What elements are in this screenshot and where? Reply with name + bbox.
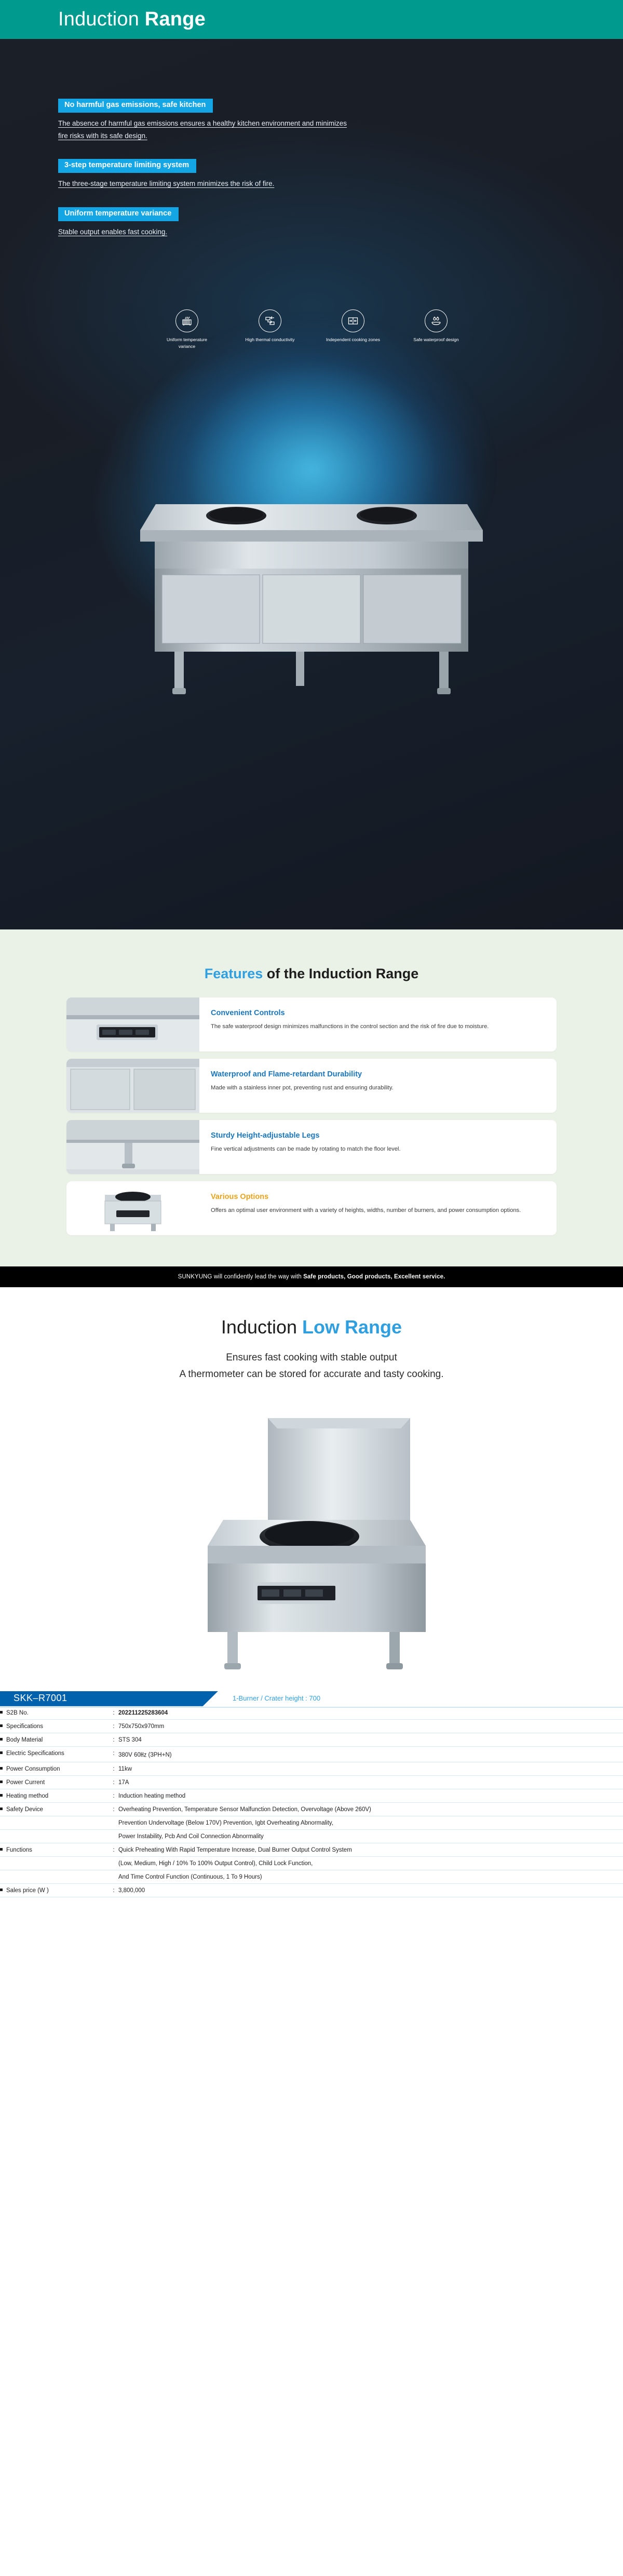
spec-colon: [109, 1816, 118, 1829]
product-page: Induction Range No harmful gas emissions…: [0, 0, 623, 1911]
spec-label-cell: Sales price (W ): [0, 1883, 109, 1897]
spec-section: SKK–R7001 1-Burner / Crater height : 700…: [0, 1688, 623, 1911]
brand-strip-bold: Safe products, Good products, Excellent …: [303, 1274, 445, 1280]
table-row: Heating method : Induction heating metho…: [0, 1789, 623, 1802]
feature-card-title: Various Options: [211, 1193, 521, 1201]
hero-bullet-badge: 3-step temperature limiting system: [58, 159, 196, 173]
lowrange-section: Induction Low Range Ensures fast cooking…: [0, 1287, 623, 1688]
spec-label: Heating method: [6, 1793, 48, 1799]
feature-card-text: The safe waterproof design minimizes mal…: [211, 1022, 489, 1032]
spec-label: Electric Specifications: [6, 1750, 64, 1757]
lowrange-subtitle-line1: Ensures fast cooking with stable output: [0, 1350, 623, 1366]
spec-label-cell: [0, 1829, 109, 1843]
feature-card-title: Waterproof and Flame-retardant Durabilit…: [211, 1070, 394, 1078]
page-title-light: Induction: [58, 8, 145, 30]
spec-label: Specifications: [6, 1723, 43, 1730]
spec-label: Power Current: [6, 1779, 45, 1786]
spec-label-cell: [0, 1856, 109, 1870]
bullet-square-icon: [0, 1794, 3, 1797]
lowrange-subtitle-line2: A thermometer can be stored for accurate…: [0, 1366, 623, 1383]
brand-strip: SUNKYUNG will confidently lead the way w…: [0, 1266, 623, 1287]
hero-bullet: 3-step temperature limiting system The t…: [58, 159, 623, 190]
spec-colon: :: [109, 1733, 118, 1746]
page-header: Induction Range: [0, 0, 623, 39]
spec-colon: [109, 1870, 118, 1883]
brand-strip-prefix: SUNKYUNG will confidently lead the way w…: [178, 1274, 304, 1280]
hero-icon-label: Uniform temperature variance: [159, 336, 215, 349]
feature-card-body: Sturdy Height-adjustable Legs Fine verti…: [199, 1120, 414, 1174]
bullet-square-icon: [0, 1889, 3, 1891]
spec-value: Induction heating method: [118, 1789, 623, 1802]
features-title: Features of the Induction Range: [0, 966, 623, 982]
heating-element-icon: [175, 309, 198, 332]
table-row: And Time Control Function (Continuous, 1…: [0, 1870, 623, 1883]
feature-card-body: Waterproof and Flame-retardant Durabilit…: [199, 1059, 407, 1113]
table-row: Electric Specifications : 380V 60㎐ (3PH+…: [0, 1746, 623, 1762]
feature-card: Various Options Offers an optimal user e…: [66, 1181, 557, 1235]
table-row: Safety Device : Overheating Prevention, …: [0, 1802, 623, 1816]
product-code: SKK–R7001: [13, 1693, 67, 1704]
lowrange-title: Induction Low Range: [0, 1316, 623, 1338]
control-panel-photo: [66, 997, 199, 1051]
spec-value: (Low, Medium, High / 10% To 100% Output …: [118, 1856, 623, 1870]
feature-card-body: Convenient Controls The safe waterproof …: [199, 997, 502, 1051]
spec-value: And Time Control Function (Continuous, 1…: [118, 1870, 623, 1883]
bullet-square-icon: [0, 1808, 3, 1810]
table-row: S2B No. : 202211225283604: [0, 1706, 623, 1720]
feature-card-text: Offers an optimal user environment with …: [211, 1206, 521, 1216]
spec-colon: [109, 1829, 118, 1843]
low-range-options-photo: [66, 1181, 199, 1235]
spec-colon: :: [109, 1789, 118, 1802]
spec-label-cell: Electric Specifications: [0, 1746, 109, 1762]
feature-card-text: Made with a stainless inner pot, prevent…: [211, 1083, 394, 1094]
bullet-square-icon: [0, 1848, 3, 1851]
spec-label: S2B No.: [6, 1710, 29, 1716]
stainless-door-photo: [66, 1059, 199, 1113]
adjustable-leg-photo: [66, 1120, 199, 1174]
bullet-square-icon: [0, 1724, 3, 1727]
page-title-bold: Range: [145, 8, 206, 30]
spec-value: 750x750x970mm: [118, 1719, 623, 1733]
spec-label-cell: Specifications: [0, 1719, 109, 1733]
bullet-square-icon: [0, 1711, 3, 1714]
spec-value: Quick Preheating With Rapid Temperature …: [118, 1843, 623, 1856]
hero-section: No harmful gas emissions, safe kitchen T…: [0, 39, 623, 929]
lowrange-subtitle: Ensures fast cooking with stable output …: [0, 1350, 623, 1383]
spec-value: STS 304: [118, 1733, 623, 1746]
spec-colon: :: [109, 1706, 118, 1720]
thermal-exchange-icon: [259, 309, 281, 332]
spec-label: Body Material: [6, 1737, 43, 1743]
spec-label-cell: Power Current: [0, 1775, 109, 1789]
spec-value: Prevention Undervoltage (Below 170V) Pre…: [118, 1816, 623, 1829]
spec-label: Functions: [6, 1847, 32, 1853]
spec-colon: [109, 1856, 118, 1870]
hero-bullet-badge: Uniform temperature variance: [58, 207, 179, 221]
features-title-rest: of the Induction Range: [263, 966, 418, 981]
spec-table: S2B No. : 202211225283604 Specifications…: [0, 1706, 623, 1897]
feature-card-body: Various Options Offers an optimal user e…: [199, 1181, 534, 1235]
product-variant: 1-Burner / Crater height : 700: [233, 1694, 320, 1702]
spec-colon: :: [109, 1775, 118, 1789]
features-section: Features of the Induction Range Convenie…: [0, 929, 623, 1266]
waterproof-drops-icon: [425, 309, 448, 332]
spec-value: 3,800,000: [118, 1883, 623, 1897]
spec-value: 11kw: [118, 1762, 623, 1775]
hero-icon-label: Safe waterproof design: [408, 336, 464, 343]
hero-icon-item: Independent cooking zones: [325, 309, 381, 349]
spec-colon: :: [109, 1762, 118, 1775]
spec-label: Sales price (W ): [6, 1887, 49, 1894]
spec-value: Overheating Prevention, Temperature Sens…: [118, 1802, 623, 1816]
spec-label-cell: Body Material: [0, 1733, 109, 1746]
spec-label-cell: Power Consumption: [0, 1762, 109, 1775]
feature-card-title: Convenient Controls: [211, 1009, 489, 1017]
feature-card-title: Sturdy Height-adjustable Legs: [211, 1131, 401, 1140]
spec-value: 17A: [118, 1775, 623, 1789]
table-row: Power Consumption : 11kw: [0, 1762, 623, 1775]
spec-colon: :: [109, 1843, 118, 1856]
spec-colon: :: [109, 1883, 118, 1897]
spec-label: Power Consumption: [6, 1766, 60, 1772]
bullet-square-icon: [0, 1767, 3, 1770]
table-row: Power Instability, Pcb And Coil Connecti…: [0, 1829, 623, 1843]
spec-label: Safety Device: [6, 1806, 43, 1813]
split-zones-icon: [342, 309, 364, 332]
spec-label-cell: [0, 1816, 109, 1829]
feature-card: Waterproof and Flame-retardant Durabilit…: [66, 1059, 557, 1113]
hero-icon-item: Safe waterproof design: [408, 309, 464, 349]
hero-bullet-text: Stable output enables fast cooking.: [58, 226, 349, 238]
spec-value: 380V 60㎐ (3PH+N): [118, 1746, 623, 1762]
spec-label-cell: Safety Device: [0, 1802, 109, 1816]
bullet-square-icon: [0, 1781, 3, 1783]
table-row: Prevention Undervoltage (Below 170V) Pre…: [0, 1816, 623, 1829]
hero-icon-label: Independent cooking zones: [325, 336, 381, 343]
hero-icon-label: High thermal conductivity: [242, 336, 298, 343]
bullet-square-icon: [0, 1751, 3, 1754]
spec-value: Power Instability, Pcb And Coil Connecti…: [118, 1829, 623, 1843]
spec-label-cell: Heating method: [0, 1789, 109, 1802]
table-row: (Low, Medium, High / 10% To 100% Output …: [0, 1856, 623, 1870]
hero-icon-item: Uniform temperature variance: [159, 309, 215, 349]
page-title: Induction Range: [58, 8, 206, 31]
table-row: Sales price (W ) : 3,800,000: [0, 1883, 623, 1897]
hero-icon-item: High thermal conductivity: [242, 309, 298, 349]
hero-product-image: [125, 374, 498, 738]
feature-card: Convenient Controls The safe waterproof …: [66, 997, 557, 1051]
lowrange-title-light: Induction: [221, 1316, 302, 1338]
hero-bullet-badge: No harmful gas emissions, safe kitchen: [58, 99, 213, 113]
lowrange-title-bold: Low Range: [302, 1316, 402, 1338]
features-title-accent: Features: [205, 966, 263, 981]
spec-colon: :: [109, 1802, 118, 1816]
spec-label-cell: Functions: [0, 1843, 109, 1856]
hero-bullet: No harmful gas emissions, safe kitchen T…: [58, 99, 623, 142]
hero-icon-row: Uniform temperature variance High therma…: [0, 309, 623, 349]
table-row: Specifications : 750x750x970mm: [0, 1719, 623, 1733]
table-row: Functions : Quick Preheating With Rapid …: [0, 1843, 623, 1856]
table-row: Body Material : STS 304: [0, 1733, 623, 1746]
spec-header: SKK–R7001 1-Burner / Crater height : 700: [0, 1691, 623, 1706]
hero-bullet-text: The three-stage temperature limiting sys…: [58, 178, 349, 190]
spec-label-cell: [0, 1870, 109, 1883]
hero-bullet: Uniform temperature variance Stable outp…: [58, 207, 623, 238]
spec-colon: :: [109, 1746, 118, 1762]
table-row: Power Current : 17A: [0, 1775, 623, 1789]
lowrange-product-image: [166, 1397, 457, 1688]
spec-header-underline: [0, 1707, 623, 1708]
spec-value: 202211225283604: [118, 1706, 623, 1720]
feature-card: Sturdy Height-adjustable Legs Fine verti…: [66, 1120, 557, 1174]
hero-bullet-text: The absence of harmful gas emissions ens…: [58, 117, 349, 142]
bullet-square-icon: [0, 1738, 3, 1741]
spec-label-cell: S2B No.: [0, 1706, 109, 1720]
hero-bullet-list: No harmful gas emissions, safe kitchen T…: [0, 39, 623, 238]
spec-colon: :: [109, 1719, 118, 1733]
feature-card-text: Fine vertical adjustments can be made by…: [211, 1144, 401, 1155]
